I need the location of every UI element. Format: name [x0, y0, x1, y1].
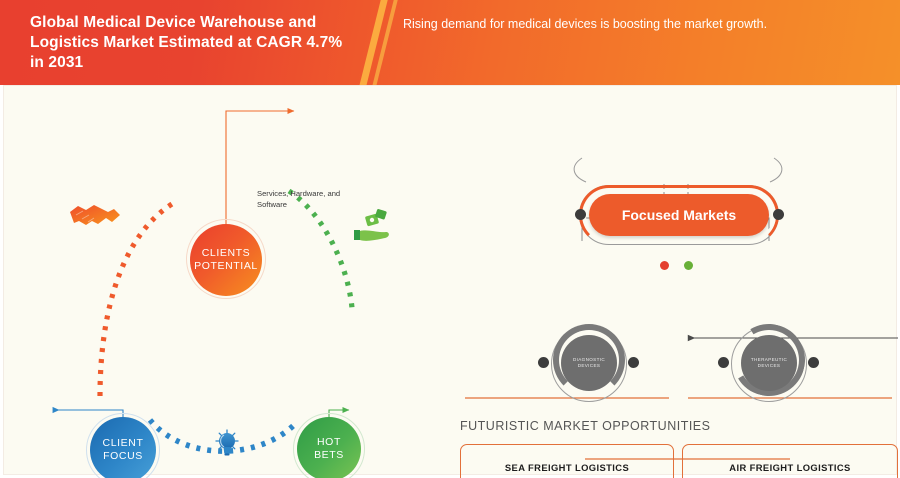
node-focused-markets[interactable]: Focused Markets: [589, 194, 769, 236]
connector-layer: [4, 86, 898, 476]
clients-potential-label-line1: CLIENTS: [202, 247, 251, 259]
money-in-hand-icon: [354, 209, 389, 241]
node-diagnostic-devices[interactable]: DIAGNOSTIC DEVICES: [561, 335, 617, 391]
focused-markets-left-dot: [575, 209, 586, 220]
diagnostic-devices-right-dot: [628, 357, 639, 368]
opportunity-sea-freight-logistics[interactable]: SEA FREIGHT LOGISTICS: [460, 444, 674, 478]
dotted-arc-orange: [100, 204, 172, 396]
client-focus-label-line2: FOCUS: [103, 450, 143, 462]
red-branch-dot: [660, 261, 669, 270]
therapeutic-devices-right-dot: [808, 357, 819, 368]
diagnostic-devices-label-line2: DEVICES: [578, 363, 601, 368]
header-banner: Global Medical Device Warehouse and Logi…: [0, 0, 900, 85]
pill-wire-left: [574, 158, 586, 182]
opportunity-air-label: AIR FREIGHT LOGISTICS: [729, 462, 850, 473]
diagnostic-devices-left-dot: [538, 357, 549, 368]
page-title: Global Medical Device Warehouse and Logi…: [30, 13, 360, 73]
therapeutic-devices-label-line2: DEVICES: [758, 363, 781, 368]
node-therapeutic-devices[interactable]: THERAPEUTIC DEVICES: [741, 335, 797, 391]
focused-markets-right-dot: [773, 209, 784, 220]
green-branch-dot: [684, 261, 693, 270]
hot-bets-label-line1: HOT: [317, 436, 341, 448]
node-clients-potential[interactable]: CLIENTS POTENTIAL: [190, 224, 262, 296]
opportunity-air-freight-logistics[interactable]: AIR FREIGHT LOGISTICS: [682, 444, 898, 478]
header-subtitle: Rising demand for medical devices is boo…: [403, 16, 843, 33]
diagnostic-devices-label-line1: DIAGNOSTIC: [573, 357, 605, 362]
hot-bets-label-line2: BETS: [314, 449, 344, 461]
node-client-focus[interactable]: CLIENT FOCUS: [90, 417, 156, 478]
diagram-canvas: CLIENTS POTENTIAL CLIENT FOCUS HOT BETS …: [3, 85, 897, 475]
annotation-services-hardware-software: Services, Hardware, and Software: [257, 189, 343, 210]
handshake-icon: [70, 205, 120, 225]
therapeutic-devices-label-line1: THERAPEUTIC: [751, 357, 787, 362]
opportunity-sea-label: SEA FREIGHT LOGISTICS: [505, 462, 629, 473]
futuristic-market-opportunities-label: FUTURISTIC MARKET OPPORTUNITIES: [460, 419, 710, 433]
clients-potential-label-line2: POTENTIAL: [194, 260, 258, 272]
therapeutic-devices-left-dot: [718, 357, 729, 368]
client-focus-label-line1: CLIENT: [103, 437, 144, 449]
focused-markets-label: Focused Markets: [622, 207, 736, 223]
pill-wire-right: [770, 158, 782, 182]
node-hot-bets[interactable]: HOT BETS: [297, 417, 361, 478]
infographic-root: Global Medical Device Warehouse and Logi…: [0, 0, 900, 478]
